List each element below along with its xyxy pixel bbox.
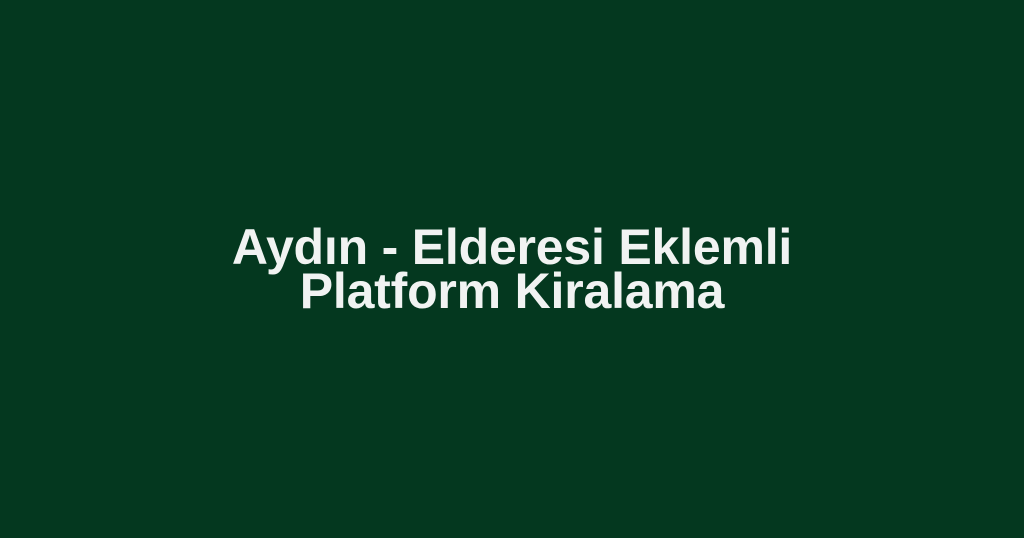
page-title: Aydın - Elderesi Eklemli Platform Kirala…: [142, 225, 882, 313]
share-card: Aydın - Elderesi Eklemli Platform Kirala…: [0, 0, 1024, 538]
card-content: Aydın - Elderesi Eklemli Platform Kirala…: [122, 225, 902, 313]
